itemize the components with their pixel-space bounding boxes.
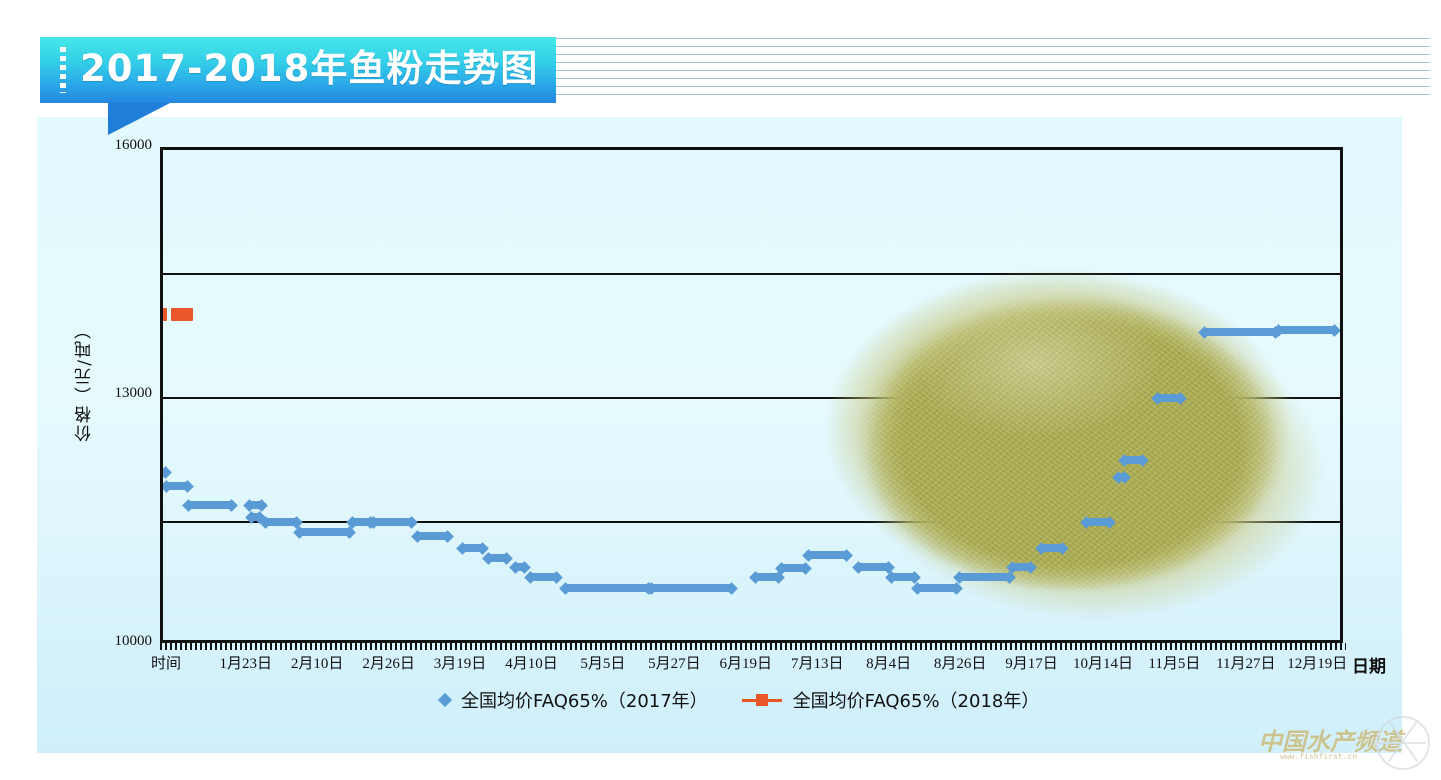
vertical-dots-icon xyxy=(60,47,66,93)
x-tick-label: 12月19日 xyxy=(1287,652,1347,673)
x-tick-label: 9月17日 xyxy=(1005,652,1058,673)
fishmeal-photo-texture xyxy=(771,240,1343,643)
watermark: 中国水产频道 www.fishfirst.cn xyxy=(1258,714,1433,772)
diamond-marker-icon xyxy=(438,693,452,707)
fishmeal-photo-body xyxy=(771,240,1343,643)
x-tick-label-origin: 时间 xyxy=(151,652,181,673)
x-tick-label: 1月23日 xyxy=(219,652,272,673)
fishmeal-photo xyxy=(771,240,1343,643)
x-tick-label: 8月4日 xyxy=(866,652,911,673)
gridline xyxy=(163,521,1340,523)
x-tick-label: 7月13日 xyxy=(791,652,844,673)
x-tick-label: 2月26日 xyxy=(362,652,415,673)
banner-tail xyxy=(108,103,170,135)
title-banner: 2017-2018年鱼粉走势图 xyxy=(40,37,556,103)
legend-item-2018: 全国均价FAQ65%（2018年） xyxy=(742,687,1040,713)
data-segment-2017 xyxy=(565,584,648,592)
legend-label-2018: 全国均价FAQ65%（2018年） xyxy=(793,687,1040,713)
legend-item-2017: 全国均价FAQ65%（2017年） xyxy=(440,687,708,713)
x-tick-label: 11月27日 xyxy=(1216,652,1275,673)
x-tick-label: 8月26日 xyxy=(934,652,987,673)
x-tick-label: 10月14日 xyxy=(1073,652,1133,673)
data-point xyxy=(908,572,921,585)
chart-legend: 全国均价FAQ65%（2017年） 全国均价FAQ65%（2018年） xyxy=(440,687,1039,713)
chart-page: 2017-2018年鱼粉走势图 价格（元/吨） 100001300016000 … xyxy=(0,0,1441,780)
fishmeal-photo-highlight xyxy=(771,240,1343,643)
gridline xyxy=(163,273,1340,275)
y-tick-label: 16000 xyxy=(115,137,153,154)
y-tick-label: 13000 xyxy=(115,385,153,402)
plot-area xyxy=(160,147,1343,643)
x-tick-label: 4月10日 xyxy=(505,652,558,673)
data-point xyxy=(160,467,172,480)
data-segment-2017 xyxy=(651,584,731,592)
x-tick-label: 11月5日 xyxy=(1148,652,1200,673)
legend-label-2017: 全国均价FAQ65%（2017年） xyxy=(461,687,708,713)
data-segment-2017 xyxy=(1204,328,1275,336)
x-axis-title: 日期 xyxy=(1352,652,1386,677)
data-segment-2018 xyxy=(161,308,167,321)
data-segment-2017 xyxy=(959,573,1009,581)
data-segment-2018 xyxy=(171,308,193,321)
y-tick-label: 10000 xyxy=(115,633,153,650)
data-segment-2017 xyxy=(1278,326,1334,334)
x-tick-label: 5月27日 xyxy=(648,652,701,673)
x-tick-label: 5月5日 xyxy=(580,652,625,673)
globe-equator xyxy=(1376,742,1426,744)
banner-decorative-lines xyxy=(556,38,1430,102)
data-point xyxy=(550,572,563,585)
y-axis-title: 价格（元/吨） xyxy=(72,320,102,442)
x-tick-label: 6月19日 xyxy=(720,652,773,673)
x-tick-label: 3月19日 xyxy=(434,652,487,673)
square-line-marker-icon xyxy=(742,699,782,702)
page-title: 2017-2018年鱼粉走势图 xyxy=(80,37,538,103)
x-axis-tick-band xyxy=(160,643,1346,650)
watermark-url: www.fishfirst.cn xyxy=(1280,752,1357,761)
globe-icon xyxy=(1376,716,1430,770)
x-tick-label: 2月10日 xyxy=(291,652,344,673)
